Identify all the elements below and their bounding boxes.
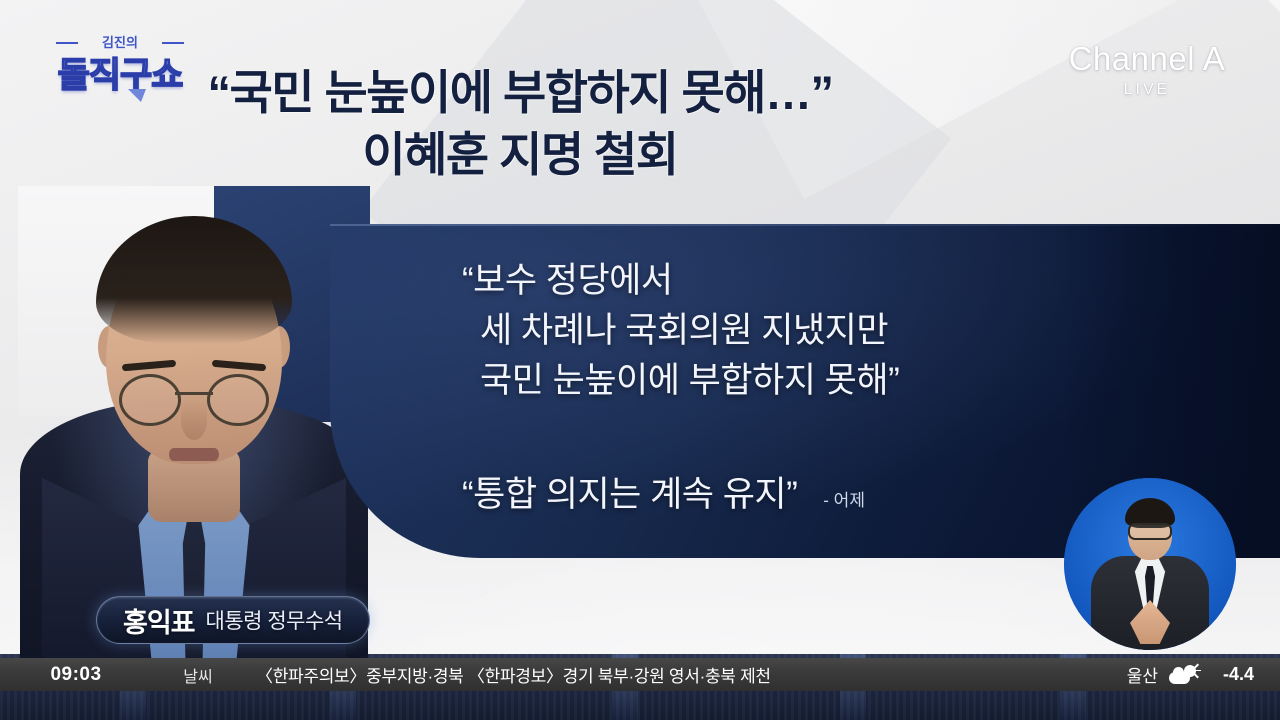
subject-eyebrow-left bbox=[122, 360, 176, 372]
glasses-bridge bbox=[175, 392, 213, 395]
logo-rule-left bbox=[56, 42, 78, 44]
quote-line-1: “보수 정당에서 bbox=[462, 256, 1062, 306]
weather-section-label: 날씨 bbox=[152, 663, 244, 687]
subject-glasses bbox=[119, 374, 269, 420]
nameplate-title: 대통령 정무수석 bbox=[206, 605, 343, 635]
show-logo: 김진의 돌직구쇼 bbox=[50, 32, 190, 104]
quote-attribution: - 어제 bbox=[823, 486, 865, 517]
nameplate: 홍익표 대통령 정무수석 bbox=[96, 596, 370, 644]
speech-bubble-tail-icon bbox=[128, 89, 146, 102]
anchor-glasses bbox=[1128, 523, 1172, 540]
show-logo-title: 돌직구쇼 bbox=[58, 47, 183, 98]
ticker-scroll-text: 〈한파주의보〉중부지방·경북 〈한파경보〉경기 북부·강원 영서·충북 제천 bbox=[244, 662, 1127, 687]
sun-ray bbox=[1196, 670, 1201, 672]
cloud-shape bbox=[1169, 672, 1190, 684]
sun-ray bbox=[1194, 663, 1199, 668]
subject-eyebrow-right bbox=[212, 360, 266, 372]
anchor-video-inset bbox=[1064, 478, 1236, 650]
quote-line-4: “통합 의지는 계속 유지” bbox=[462, 466, 797, 517]
weather-temperature: -4.4 bbox=[1208, 664, 1254, 685]
sun-ray bbox=[1194, 673, 1199, 678]
subject-mouth bbox=[169, 448, 219, 461]
partly-cloudy-icon bbox=[1169, 665, 1197, 685]
quote-block-primary: “보수 정당에서 세 차례나 국회의원 지냈지만 국민 눈높이에 부합하지 못해… bbox=[462, 256, 1062, 406]
glasses-lens-right bbox=[207, 374, 269, 426]
glasses-lens-left bbox=[119, 374, 181, 426]
quote-line-2: 세 차례나 국회의원 지냈지만 bbox=[462, 306, 1062, 356]
headline-line-2: 이혜훈 지명 철회 bbox=[0, 124, 1040, 186]
broadcast-screen: “보수 정당에서 세 차례나 국회의원 지냈지만 국민 눈높이에 부합하지 못해… bbox=[0, 0, 1280, 720]
corner-fold-decoration bbox=[1228, 0, 1280, 12]
quote-block-secondary: “통합 의지는 계속 유지” - 어제 bbox=[462, 466, 865, 517]
channel-logo: Channel A LIVE bbox=[1042, 40, 1252, 99]
ticker-weather-widget: 울산 -4.4 bbox=[1127, 662, 1280, 687]
logo-rule-right bbox=[162, 42, 184, 44]
clock: 09:03 bbox=[0, 664, 152, 686]
quote-line-3: 국민 눈높이에 부합하지 못해” bbox=[462, 356, 1062, 406]
nameplate-name: 홍익표 bbox=[123, 601, 195, 640]
live-indicator: LIVE bbox=[1042, 81, 1252, 99]
weather-city: 울산 bbox=[1127, 662, 1158, 687]
channel-name: Channel A bbox=[1042, 40, 1252, 78]
ticker-bar: 09:03 날씨 〈한파주의보〉중부지방·경북 〈한파경보〉경기 북부·강원 영… bbox=[0, 658, 1280, 691]
